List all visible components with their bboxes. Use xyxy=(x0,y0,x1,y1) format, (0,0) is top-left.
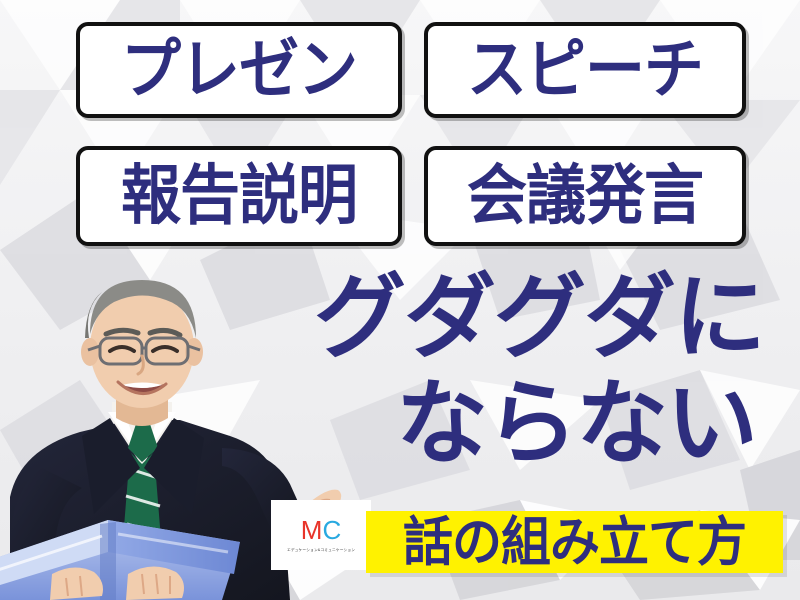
mc-logo-plate: MC エデュケーション&コミュニケーション xyxy=(271,500,371,570)
tag-box-meeting: 会議発言 xyxy=(424,146,746,246)
tag-box-presen: プレゼン xyxy=(76,22,402,118)
headline: グダグダに ならない xyxy=(300,272,800,472)
logo-letter-m: M xyxy=(301,515,323,545)
mc-logo-mark: MC xyxy=(301,517,341,543)
poster-canvas: プレゼン スピーチ 報告説明 会議発言 xyxy=(0,0,800,600)
tag-label-report: 報告説明 xyxy=(121,164,357,229)
highlight-text: 話の組み立て方 xyxy=(403,516,746,569)
headline-line-2: ならない xyxy=(396,378,800,472)
tag-box-report: 報告説明 xyxy=(76,146,402,246)
tag-label-presen: プレゼン xyxy=(121,38,357,103)
logo-letter-c: C xyxy=(322,515,341,545)
mc-logo-subtext: エデュケーション&コミュニケーション xyxy=(287,547,355,553)
headline-line-1: グダグダに xyxy=(314,272,800,366)
highlight-banner: 話の組み立て方 xyxy=(366,511,783,573)
tag-box-speech: スピーチ xyxy=(424,22,746,118)
tag-label-meeting: 会議発言 xyxy=(467,164,703,229)
tag-label-speech: スピーチ xyxy=(467,38,703,103)
